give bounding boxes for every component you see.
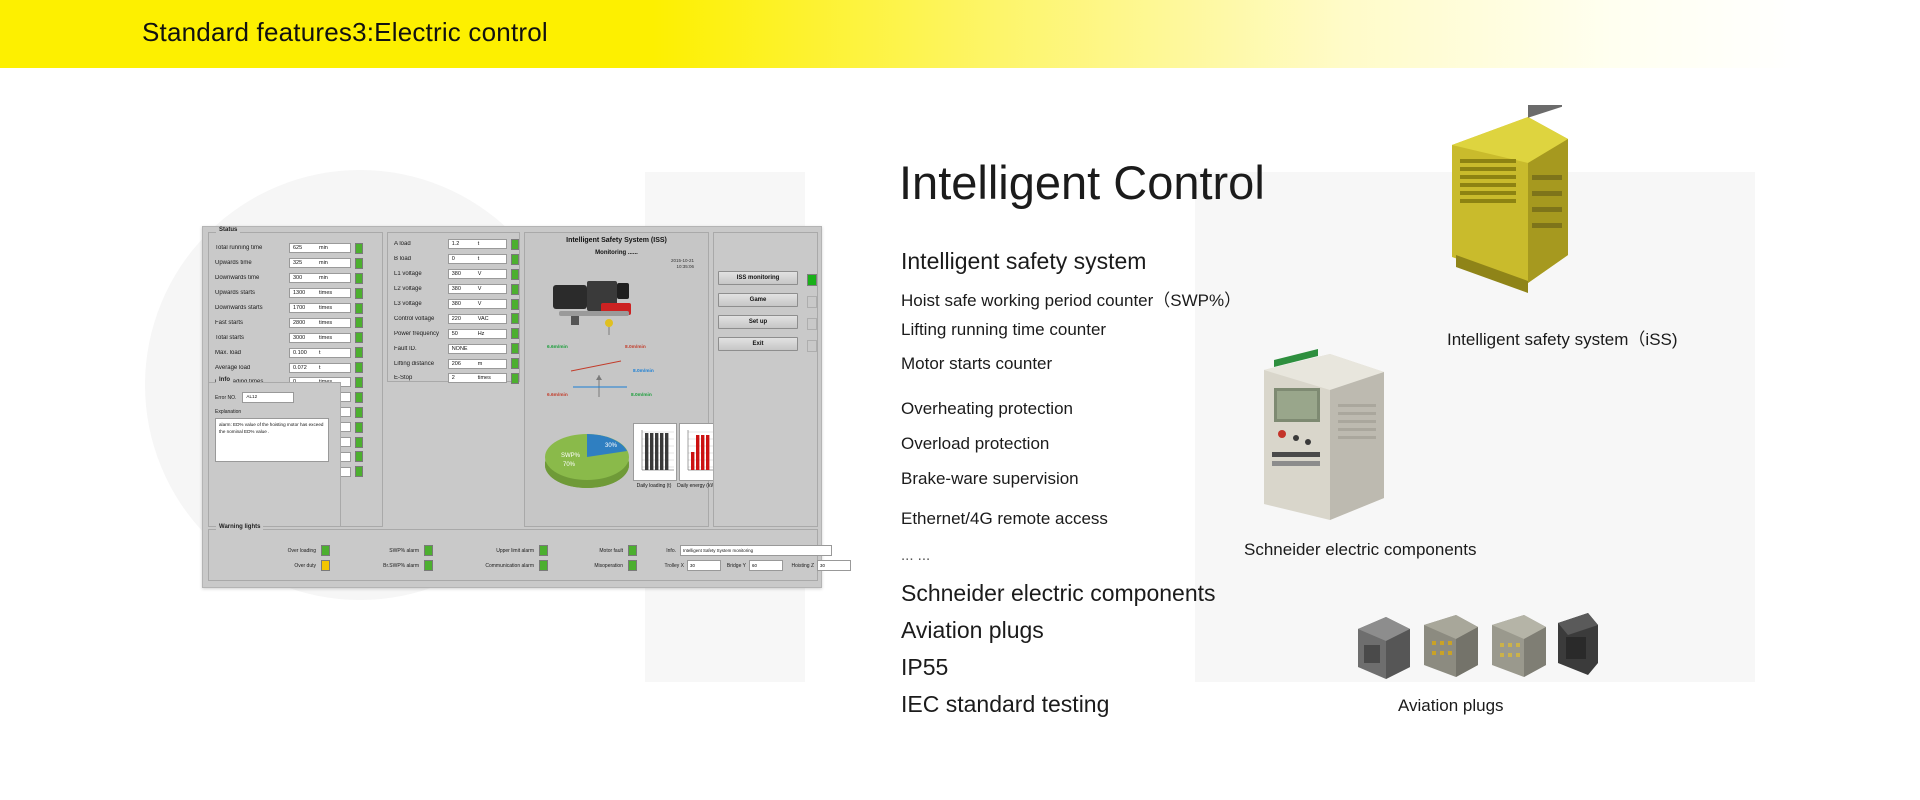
warning-led — [424, 545, 433, 556]
measurement-row: B load0t — [388, 252, 519, 267]
monitoring-title: Intelligent Safety System (ISS) — [525, 233, 708, 244]
bridge-value: 60 — [752, 563, 757, 568]
status-led — [511, 328, 519, 339]
info-label: Info. — [660, 548, 676, 554]
hoisting-field[interactable]: 30 — [817, 560, 851, 571]
row-field[interactable]: 1700times — [289, 303, 351, 313]
warning-label: SWP% alarm — [357, 548, 419, 554]
info-value: Intelligent Safety System monitoring — [683, 548, 753, 553]
trolley-field[interactable]: 30 — [687, 560, 721, 571]
row-label: L2 voltage — [394, 286, 448, 292]
set-up-button[interactable]: Set up — [718, 315, 798, 329]
bridge-field[interactable]: 60 — [749, 560, 783, 571]
row-label: L1 voltage — [394, 271, 448, 277]
pie-slice-value-swp: 70% — [563, 462, 576, 468]
trolley-label: Trolley X — [660, 563, 684, 569]
row-label: Upwards starts — [215, 290, 289, 296]
row-unit: min — [319, 260, 328, 266]
status-led — [511, 343, 519, 354]
trolley-value: 30 — [690, 563, 695, 568]
row-value: 380 — [449, 301, 478, 307]
page-title: Intelligent Control — [899, 155, 1265, 210]
row-label: Lifting distance — [394, 361, 448, 367]
row-value: 0.100 — [290, 350, 319, 356]
highlight-item: Schneider electric components — [901, 580, 1216, 607]
status-led — [511, 358, 519, 369]
warning-led — [321, 560, 330, 571]
row-field[interactable]: 0t — [448, 254, 508, 264]
highlight-item: Aviation plugs — [901, 617, 1044, 644]
row-field[interactable]: 220VAC — [448, 314, 508, 324]
pie-slice-label-swp: SWP% — [561, 453, 581, 459]
feature-item: Ethernet/4G remote access — [901, 509, 1108, 529]
row-value: 220 — [449, 316, 478, 322]
status-led — [511, 239, 519, 250]
status-led — [355, 437, 363, 448]
measurement-group: A load1.2t B load0t L1 voltage380V L2 vo… — [387, 232, 520, 382]
status-group-title: Status — [216, 227, 240, 233]
hoisting-label: Hoisting Z — [786, 563, 814, 569]
row-label: B load — [394, 256, 448, 262]
row-unit: times — [319, 320, 332, 326]
row-unit: times — [319, 305, 332, 311]
measurement-row: Lifting distance206m — [388, 356, 519, 371]
row-value: 0.072 — [290, 365, 319, 371]
row-field[interactable]: 325min — [289, 258, 351, 268]
warning-led — [539, 560, 548, 571]
status-row: Fast starts2800times — [209, 315, 382, 330]
status-row: Downwards time300min — [209, 271, 382, 286]
row-label: Total running time — [215, 245, 289, 251]
feature-item: Overheating protection — [901, 399, 1073, 419]
row-label: Control voltage — [394, 316, 448, 322]
feature-item: Overload protection — [901, 434, 1049, 454]
button-row: ISS monitoring — [714, 271, 817, 289]
status-led — [511, 299, 519, 310]
warning-label: Misoperation — [571, 563, 623, 569]
row-value: 206 — [449, 361, 478, 367]
feature-item-ellipsis: ... ... — [901, 547, 930, 564]
row-field[interactable]: 380V — [448, 284, 508, 294]
status-led — [355, 243, 363, 254]
measurement-row: L1 voltage380V — [388, 267, 519, 282]
feature-item: Hoist safe working period counter（SWP%） — [901, 286, 1241, 311]
row-label: Downwards time — [215, 275, 289, 281]
row-field[interactable]: 0.100t — [289, 348, 351, 358]
row-label: Downwards starts — [215, 305, 289, 311]
error-group-title: Info — [216, 377, 233, 383]
aviation-plugs-image — [1352, 605, 1602, 690]
feature-item: Lifting running time counter — [901, 320, 1106, 340]
status-led — [511, 284, 519, 295]
measurement-row: Control voltage220VAC — [388, 311, 519, 326]
warning-led — [628, 560, 637, 571]
measurement-row: L2 voltage380V — [388, 282, 519, 297]
explanation-label: Explanation — [215, 409, 334, 415]
status-led — [355, 466, 363, 477]
row-value: 380 — [449, 286, 478, 292]
monitoring-time: 10:35:06 — [525, 264, 708, 270]
row-value: 300 — [290, 275, 319, 281]
measurement-row: Power frequency50Hz — [388, 326, 519, 341]
row-label: Average load — [215, 365, 289, 371]
row-unit: V — [478, 271, 482, 277]
row-unit: times — [319, 290, 332, 296]
row-label: Upwards time — [215, 260, 289, 266]
button-row: Exit — [714, 337, 817, 355]
error-no-value: AL12 — [246, 394, 257, 401]
row-value: 325 — [290, 260, 319, 266]
hoist-illustration-icon — [549, 277, 669, 339]
status-led — [355, 422, 363, 433]
row-label: E-Stop — [394, 375, 448, 381]
row-unit: V — [478, 301, 482, 307]
row-field[interactable]: 380V — [448, 299, 508, 309]
bridge-label: Bridge Y — [724, 563, 746, 569]
status-led — [355, 288, 363, 299]
row-value: 2 — [449, 375, 478, 381]
row-value: 1.2 — [449, 241, 478, 247]
iss-monitoring-button[interactable]: ISS monitoring — [718, 271, 798, 285]
warning-led — [628, 545, 637, 556]
row-value: 625 — [290, 245, 319, 251]
monitoring-subtitle: Monitoring ...... — [525, 244, 708, 256]
button-led — [807, 296, 817, 308]
status-led — [355, 392, 363, 403]
row-value: NONE — [449, 346, 478, 352]
warning-led — [539, 545, 548, 556]
warning-label: Upper limit alarm — [456, 548, 534, 554]
section-subtitle: Intelligent safety system — [901, 248, 1146, 275]
row-unit: t — [319, 365, 321, 371]
status-row: Downwards starts1700times — [209, 301, 382, 316]
row-value: 50 — [449, 331, 478, 337]
row-unit: t — [478, 241, 480, 247]
highlight-item: IP55 — [901, 654, 948, 681]
schneider-vfd-image — [1258, 348, 1390, 528]
row-unit: t — [478, 256, 480, 262]
daily-loading-chart — [633, 423, 677, 481]
hoisting-value: 30 — [820, 563, 825, 568]
row-unit: m — [478, 361, 483, 367]
row-field[interactable]: 206m — [448, 359, 508, 369]
error-no-label: Error NO. — [215, 395, 236, 401]
status-led — [355, 362, 363, 373]
status-led — [355, 347, 363, 358]
warning-label: Communication alarm — [456, 563, 534, 569]
row-value: 380 — [449, 271, 478, 277]
status-led — [355, 317, 363, 328]
monitoring-group: Intelligent Safety System (ISS) Monitori… — [524, 232, 709, 527]
row-label: Fault ID. — [394, 346, 448, 352]
exit-button[interactable]: Exit — [718, 337, 798, 351]
row-field[interactable]: 1300times — [289, 288, 351, 298]
row-label: Fast starts — [215, 320, 289, 326]
warning-group-title: Warning lights — [216, 524, 263, 530]
error-info-group: Info Error NO. AL12 Explanation alarm: E… — [208, 382, 341, 527]
warning-label: Motor fault — [571, 548, 623, 554]
warning-led — [424, 560, 433, 571]
speed-arrows-icon — [541, 341, 701, 411]
status-row: Total starts3000times — [209, 330, 382, 345]
row-label: L3 voltage — [394, 301, 448, 307]
measurement-row: A load1.2t — [388, 237, 519, 252]
row-field[interactable]: 2800times — [289, 318, 351, 328]
row-value: 2800 — [290, 320, 319, 326]
button-row: Set up — [714, 315, 817, 333]
status-led — [355, 273, 363, 284]
row-field[interactable]: NONE — [448, 344, 508, 354]
row-field[interactable]: 2times — [448, 373, 508, 383]
row-field[interactable]: 380V — [448, 269, 508, 279]
status-led — [355, 332, 363, 343]
error-no-field[interactable]: AL12 — [242, 392, 294, 403]
row-unit: min — [319, 245, 328, 251]
status-row: Upwards starts1300times — [209, 286, 382, 301]
button-led — [807, 340, 817, 352]
schneider-caption: Schneider electric components — [1244, 540, 1476, 560]
hmi-upper-area: Status Total running time625min Upwards … — [208, 232, 818, 527]
status-led — [511, 269, 519, 280]
row-value: 1300 — [290, 290, 319, 296]
pie-slice-label-rest: 30% — [605, 443, 618, 449]
row-unit: t — [319, 350, 321, 356]
warning-lights-group: Warning lights Over loading Over duty SW… — [208, 529, 818, 581]
row-unit: times — [319, 335, 332, 341]
status-led — [355, 451, 363, 462]
status-led — [355, 303, 363, 314]
status-led — [511, 373, 519, 384]
plugs-caption: Aviation plugs — [1398, 696, 1504, 716]
row-field[interactable]: 50Hz — [448, 329, 508, 339]
row-unit: min — [319, 275, 328, 281]
status-led — [511, 313, 519, 324]
row-field[interactable]: 300min — [289, 273, 351, 283]
warning-led — [321, 545, 330, 556]
status-led — [355, 407, 363, 418]
status-row: Upwards time325min — [209, 256, 382, 271]
status-led — [511, 254, 519, 265]
game-button[interactable]: Game — [718, 293, 798, 307]
row-field[interactable]: 1.2t — [448, 239, 508, 249]
measurement-row: E-Stop2times — [388, 371, 519, 386]
warning-label: Br.SWP% alarm — [357, 563, 419, 569]
row-field[interactable]: 625min — [289, 243, 351, 253]
header-banner: Standard features3:Electric control — [0, 0, 1920, 68]
row-label: Power frequency — [394, 331, 448, 337]
error-body: Error NO. AL12 Explanation alarm: ED% va… — [209, 383, 340, 462]
measurement-row: Fault ID.NONE — [388, 341, 519, 356]
row-value: 3000 — [290, 335, 319, 341]
status-row: Total running time625min — [209, 241, 382, 256]
row-label: Max. load — [215, 350, 289, 356]
row-unit: V — [478, 286, 482, 292]
row-label: Total starts — [215, 335, 289, 341]
row-unit: times — [478, 375, 491, 381]
side-buttons: ISS monitoring Game Set up Exit — [714, 233, 817, 355]
row-field[interactable]: 3000times — [289, 333, 351, 343]
row-field[interactable]: 0.072t — [289, 363, 351, 373]
measurement-row: L3 voltage380V — [388, 297, 519, 312]
row-value: 1700 — [290, 305, 319, 311]
banner-title: Standard features3:Electric control — [142, 17, 548, 48]
feature-item: Brake-ware supervision — [901, 469, 1079, 489]
status-led — [355, 377, 363, 388]
warning-label: Over loading — [254, 548, 316, 554]
hmi-screenshot-panel: Status Total running time625min Upwards … — [202, 226, 822, 588]
feature-item: Motor starts counter — [901, 354, 1052, 374]
row-unit: VAC — [478, 316, 489, 322]
warning-label: Over duty — [254, 563, 316, 569]
button-row: Game — [714, 293, 817, 311]
row-unit: Hz — [478, 331, 485, 337]
info-field[interactable]: Intelligent Safety System monitoring — [680, 545, 832, 556]
button-led — [807, 274, 817, 286]
row-value: 0 — [449, 256, 478, 262]
explanation-text: alarm: ED% value of the hoisting motor h… — [215, 418, 329, 462]
status-row: Average load0.072t — [209, 360, 382, 375]
button-led — [807, 318, 817, 330]
iss-safety-relay-image — [1432, 105, 1580, 310]
row-label: A load — [394, 241, 448, 247]
iss-caption: Intelligent safety system（iSS) — [1447, 325, 1678, 350]
status-led — [355, 258, 363, 269]
measurement-rows: A load1.2t B load0t L1 voltage380V L2 vo… — [388, 233, 519, 386]
highlight-item: IEC standard testing — [901, 691, 1109, 718]
side-button-group: ISS monitoring Game Set up Exit — [713, 232, 818, 527]
status-row: Max. load0.100t — [209, 345, 382, 360]
